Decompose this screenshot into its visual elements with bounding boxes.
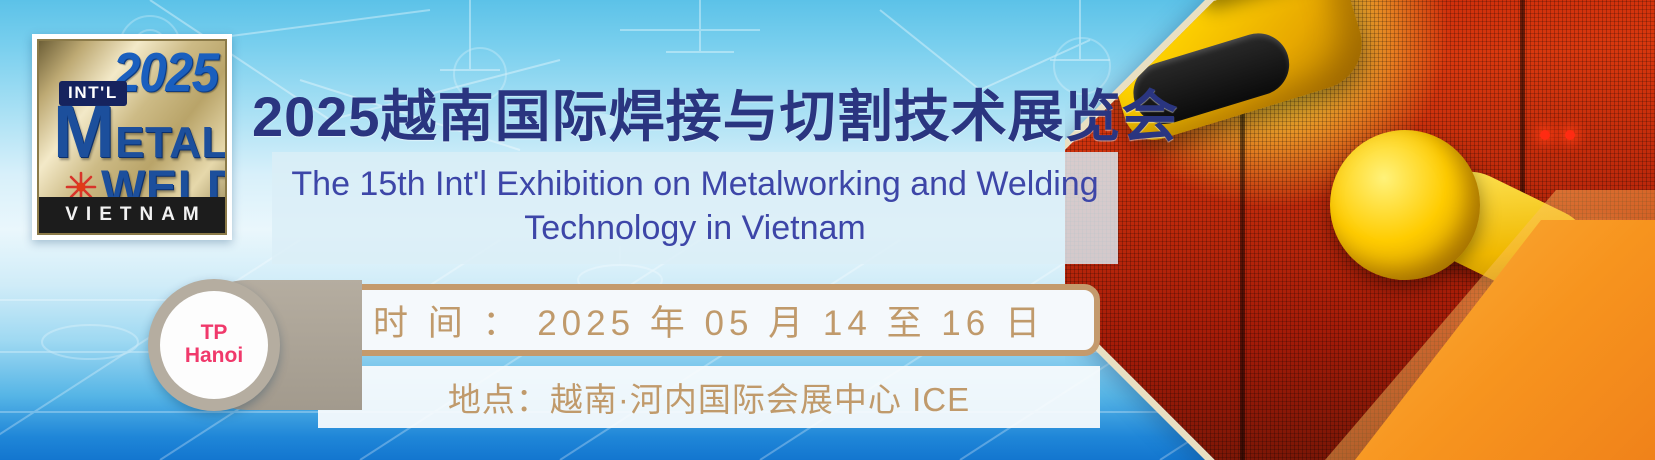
subtitle-english-line1: The 15th Int'l Exhibition on Metalworkin… [272, 162, 1118, 206]
subtitle-panel: The 15th Int'l Exhibition on Metalworkin… [272, 152, 1118, 264]
robot-shoulder-joint [1330, 130, 1480, 280]
status-led [1540, 130, 1550, 140]
subtitle-english: The 15th Int'l Exhibition on Metalworkin… [272, 162, 1118, 250]
page-title-chinese: 2025越南国际焊接与切割技术展览会 [252, 72, 1179, 153]
city-badge: TP Hanoi [148, 279, 280, 411]
logo-metal-wordmark: METAL [53, 99, 227, 168]
logo-plate: 2025 INT'L METAL WELD VIETNAM [37, 39, 227, 235]
subtitle-english-line2: Technology in Vietnam [272, 206, 1118, 250]
status-led [1565, 130, 1575, 140]
logo-country: VIETNAM [39, 197, 225, 233]
city-badge-line2: Hanoi [185, 345, 243, 368]
city-badge-core: TP Hanoi [160, 291, 268, 399]
exhibition-banner: 2025 INT'L METAL WELD VIETNAM 202 [0, 0, 1655, 460]
event-venue-box: 地点：越南·河内国际会展中心 ICE [318, 366, 1100, 428]
event-venue-text: 地点：越南·河内国际会展中心 ICE [448, 373, 970, 421]
logo-year: 2025 [113, 42, 218, 105]
event-logo: 2025 INT'L METAL WELD VIETNAM [32, 34, 232, 240]
city-badge-line1: TP [201, 322, 228, 345]
event-date-box: 时 间 ： 2025 年 05 月 14 至 16 日 [318, 284, 1100, 356]
event-date-text: 时 间 ： 2025 年 05 月 14 至 16 日 [373, 295, 1045, 346]
